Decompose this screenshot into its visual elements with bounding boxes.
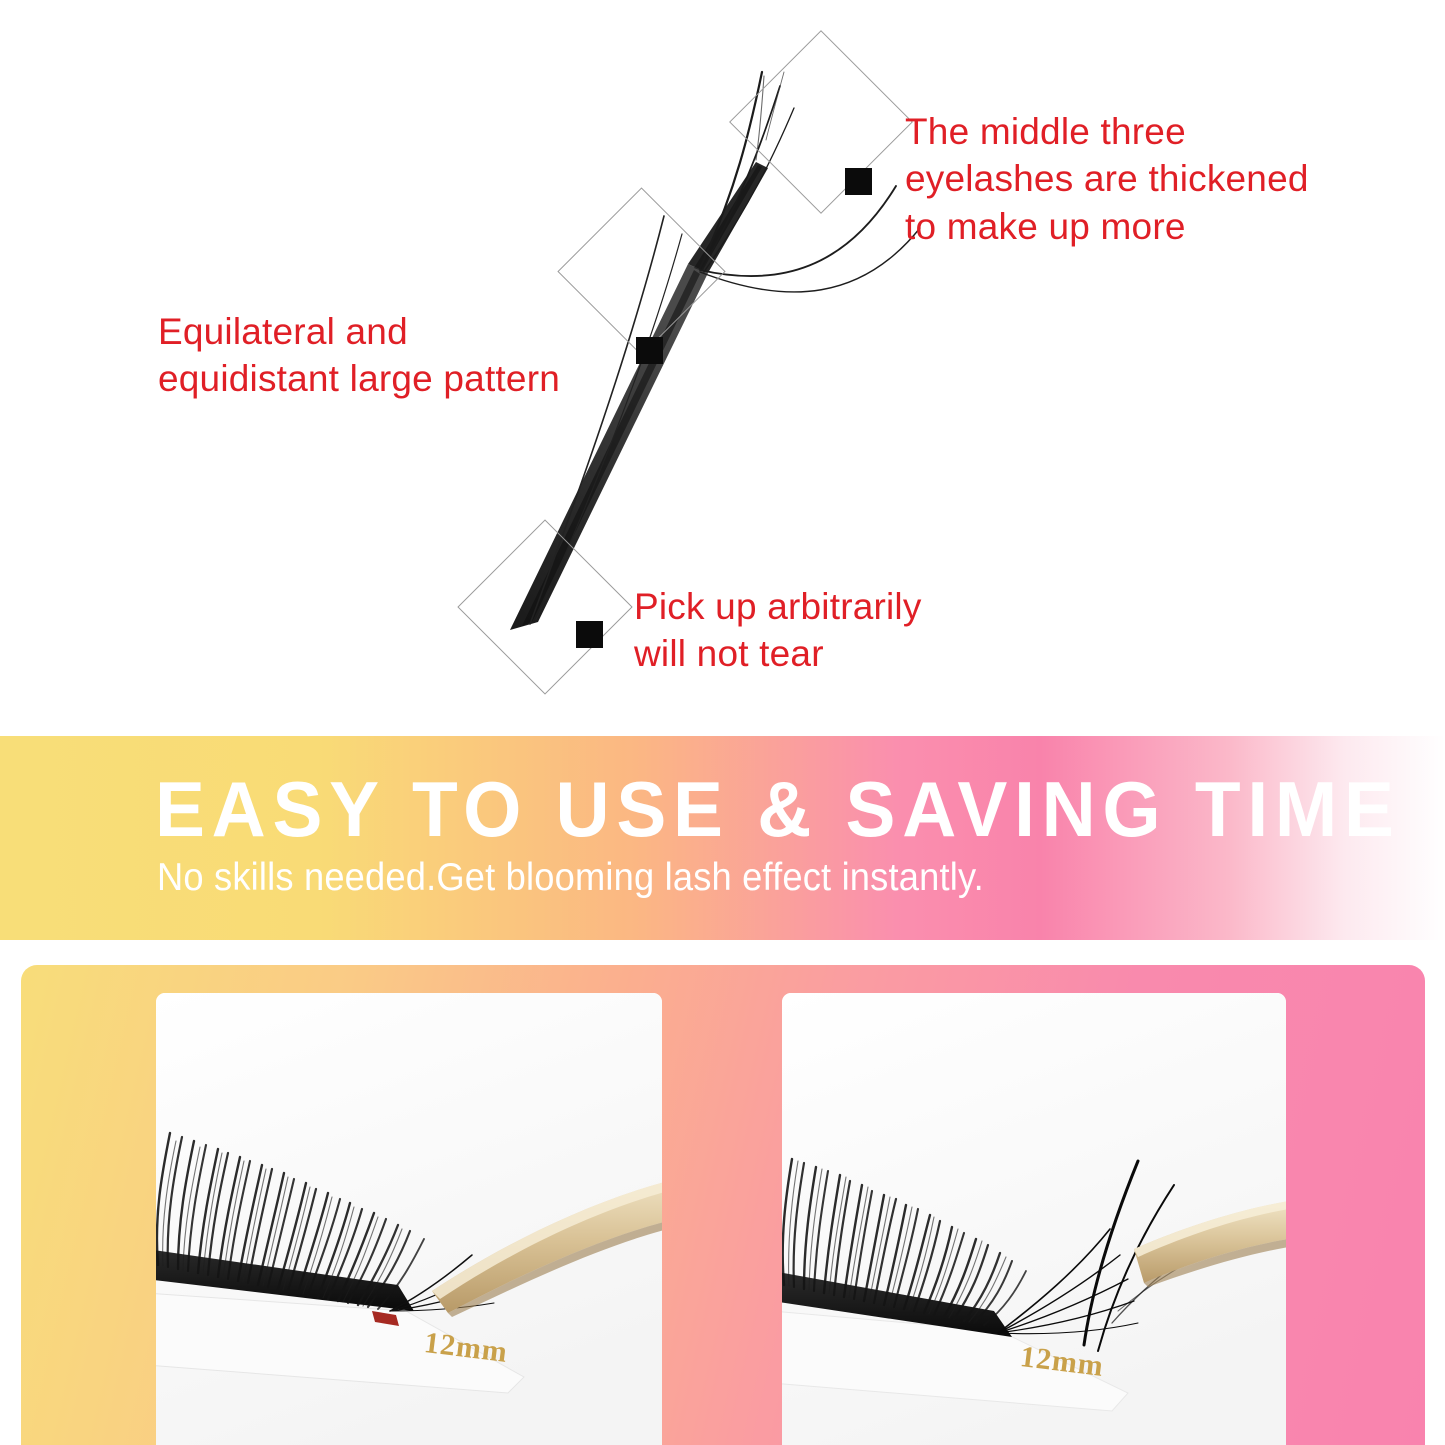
photos-section: 12mm: [21, 965, 1425, 1445]
banner-title: EASY TO USE & SAVING TIME: [155, 770, 1401, 848]
banner-section: EASY TO USE & SAVING TIME No skills need…: [0, 736, 1445, 940]
photo-card-lash-fan: 12mm: [782, 993, 1286, 1445]
callout-equilateral: Equilateral and equidistant large patter…: [158, 308, 628, 403]
callout-middle-three: The middle three eyelashes are thickened…: [905, 108, 1375, 250]
lash-tray-photo: [156, 993, 662, 1445]
lash-fan-photo: [782, 993, 1286, 1445]
banner-subtitle: No skills needed.Get blooming lash effec…: [157, 858, 984, 897]
square-marker-middle: [636, 337, 663, 364]
photo-card-lash-tray: 12mm: [156, 993, 662, 1445]
diagram-section: The middle three eyelashes are thickened…: [0, 0, 1445, 735]
callout-pick-up: Pick up arbitrarily will not tear: [634, 583, 1034, 678]
square-marker-top: [845, 168, 872, 195]
square-marker-bottom: [576, 621, 603, 648]
